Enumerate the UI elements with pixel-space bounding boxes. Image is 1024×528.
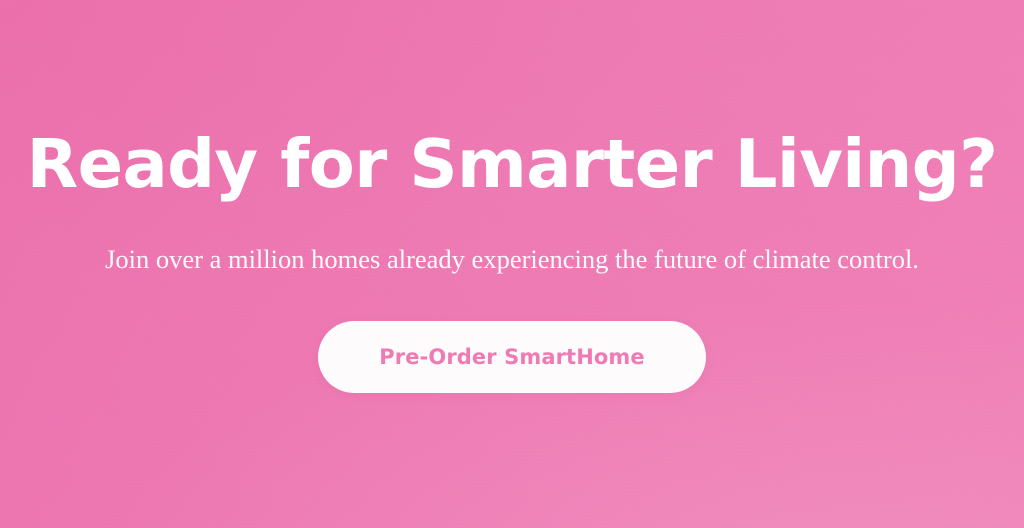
pre-order-button-label: Pre-Order SmartHome [379,345,644,369]
page-title: Ready for Smarter Living? [27,131,998,198]
pre-order-button[interactable]: Pre-Order SmartHome [318,321,706,393]
cta-button-container: Pre-Order SmartHome [318,321,706,393]
cta-subtitle: Join over a million homes already experi… [105,243,919,276]
cta-banner: Ready for Smarter Living? Join over a mi… [0,0,1024,528]
cta-content: Ready for Smarter Living? Join over a mi… [0,0,1024,393]
